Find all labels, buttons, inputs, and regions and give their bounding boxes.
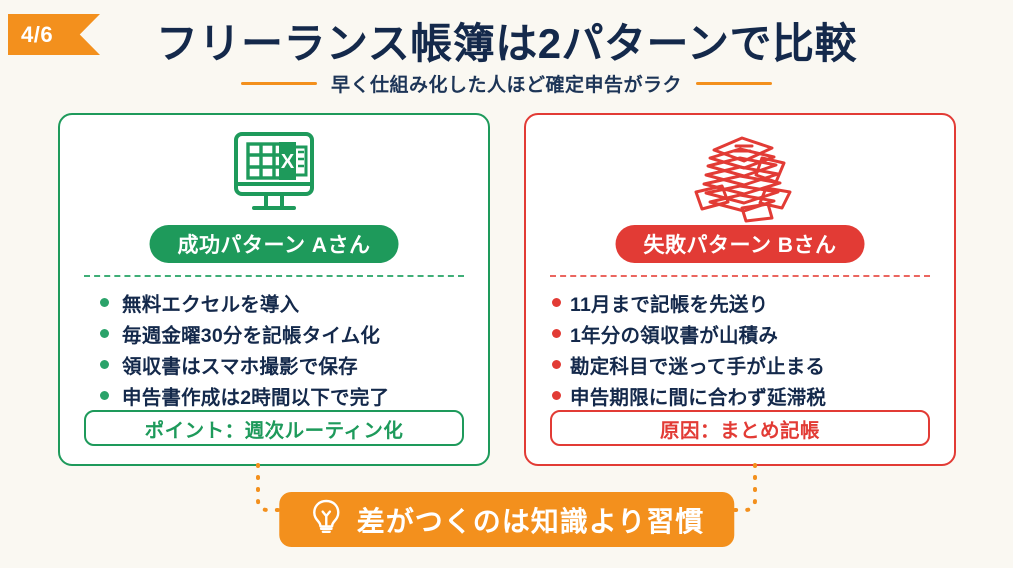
- card-divider: [550, 275, 930, 277]
- bullet-dot-icon: [100, 360, 109, 369]
- note-box-failure: 原因：まとめ記帳: [550, 410, 930, 446]
- card-divider: [84, 275, 464, 277]
- bullet-dot-icon: [552, 298, 561, 307]
- lightbulb-icon: [309, 498, 343, 541]
- list-item-label: 毎週金曜30分を記帳タイム化: [122, 319, 380, 348]
- list-item-label: 領収書はスマホ撮影で保存: [122, 350, 358, 379]
- list-item: 1年分の領収書が山積み: [526, 318, 954, 349]
- bullet-list-success: 無料エクセルを導入 毎週金曜30分を記帳タイム化 領収書はスマホ撮影で保存 申告…: [60, 287, 488, 411]
- list-item: 無料エクセルを導入: [60, 287, 488, 318]
- card-success-pattern: X 成功パターン Aさん 無料エクセルを導入 毎週金曜30分を記帳タイム化 領収…: [58, 113, 490, 466]
- summary-banner: 差がつくのは知識より習慣: [279, 492, 734, 547]
- subtitle-rule-left: [241, 82, 317, 85]
- bullet-list-failure: 11月まで記帳を先送り 1年分の領収書が山積み 勘定科目で迷って手が止まる 申告…: [526, 287, 954, 411]
- paper-stack-icon: [526, 127, 954, 229]
- bullet-dot-icon: [552, 391, 561, 400]
- bullet-dot-icon: [552, 329, 561, 338]
- page-title: フリーランス帳簿は2パターンで比較: [0, 10, 1013, 71]
- list-item: 申告書作成は2時間以下で完了: [60, 380, 488, 411]
- note-box-success: ポイント：週次ルーティン化: [84, 410, 464, 446]
- list-item-label: 申告期限に間に合わず延滞税: [570, 381, 826, 410]
- list-item: 領収書はスマホ撮影で保存: [60, 349, 488, 380]
- bullet-dot-icon: [100, 391, 109, 400]
- list-item-label: 11月まで記帳を先送り: [570, 288, 768, 317]
- list-item-label: 無料エクセルを導入: [122, 288, 299, 317]
- list-item: 勘定科目で迷って手が止まる: [526, 349, 954, 380]
- list-item-label: 1年分の領収書が山積み: [570, 319, 778, 348]
- list-item-label: 勘定科目で迷って手が止まる: [570, 350, 825, 379]
- page-subtitle: 早く仕組み化した人ほど確定申告がラク: [331, 70, 682, 97]
- svg-text:X: X: [281, 151, 295, 173]
- bullet-dot-icon: [100, 329, 109, 338]
- badge-success-pattern: 成功パターン Aさん: [150, 225, 399, 263]
- list-item: 申告期限に間に合わず延滞税: [526, 380, 954, 411]
- bullet-dot-icon: [552, 360, 561, 369]
- list-item-label: 申告書作成は2時間以下で完了: [122, 381, 389, 410]
- list-item: 毎週金曜30分を記帳タイム化: [60, 318, 488, 349]
- subtitle-rule-right: [696, 82, 772, 85]
- header: 4/6 フリーランス帳簿は2パターンで比較 早く仕組み化した人ほど確定申告がラク: [0, 0, 1013, 108]
- summary-banner-label: 差がつくのは知識より習慣: [357, 500, 704, 540]
- badge-failure-pattern: 失敗パターン Bさん: [616, 225, 865, 263]
- subtitle-row: 早く仕組み化した人ほど確定申告がラク: [0, 70, 1013, 97]
- list-item: 11月まで記帳を先送り: [526, 287, 954, 318]
- card-failure-pattern: 失敗パターン Bさん 11月まで記帳を先送り 1年分の領収書が山積み 勘定科目で…: [524, 113, 956, 466]
- bullet-dot-icon: [100, 298, 109, 307]
- desktop-spreadsheet-icon: X: [60, 127, 488, 229]
